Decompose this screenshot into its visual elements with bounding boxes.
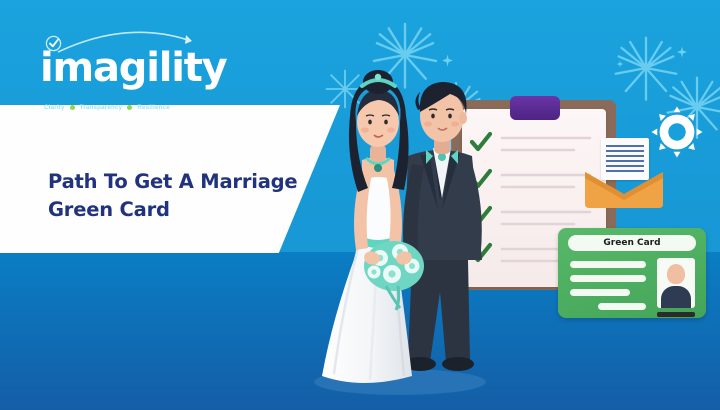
headline-line-1: Path To Get A Marriage: [48, 168, 328, 196]
tagline-clarity: Clarity: [44, 104, 65, 111]
tagline-separator-dot: [70, 105, 75, 110]
green-card-id: Green Card: [558, 228, 706, 318]
page-title: Path To Get A Marriage Green Card: [48, 168, 328, 225]
green-card-title: Green Card: [568, 235, 696, 251]
logo-tagline: Clarity Transparency Resilience: [44, 104, 230, 111]
tagline-resilience: Resilience: [137, 104, 170, 111]
tagline-separator-dot: [127, 105, 132, 110]
small-star-decoration: [676, 46, 688, 58]
small-star-decoration: [616, 60, 624, 68]
imagility-logo[interactable]: imagility Clarity Transparency Resilienc…: [40, 26, 230, 98]
logo-wordmark: imagility: [40, 48, 227, 88]
tagline-transparency: Transparency: [80, 104, 123, 111]
headline-line-2: Green Card: [48, 196, 328, 224]
marketing-banner: Green Card: [0, 0, 720, 410]
open-envelope-with-letter: [585, 140, 663, 206]
portrait-photo-placeholder: [657, 258, 695, 308]
